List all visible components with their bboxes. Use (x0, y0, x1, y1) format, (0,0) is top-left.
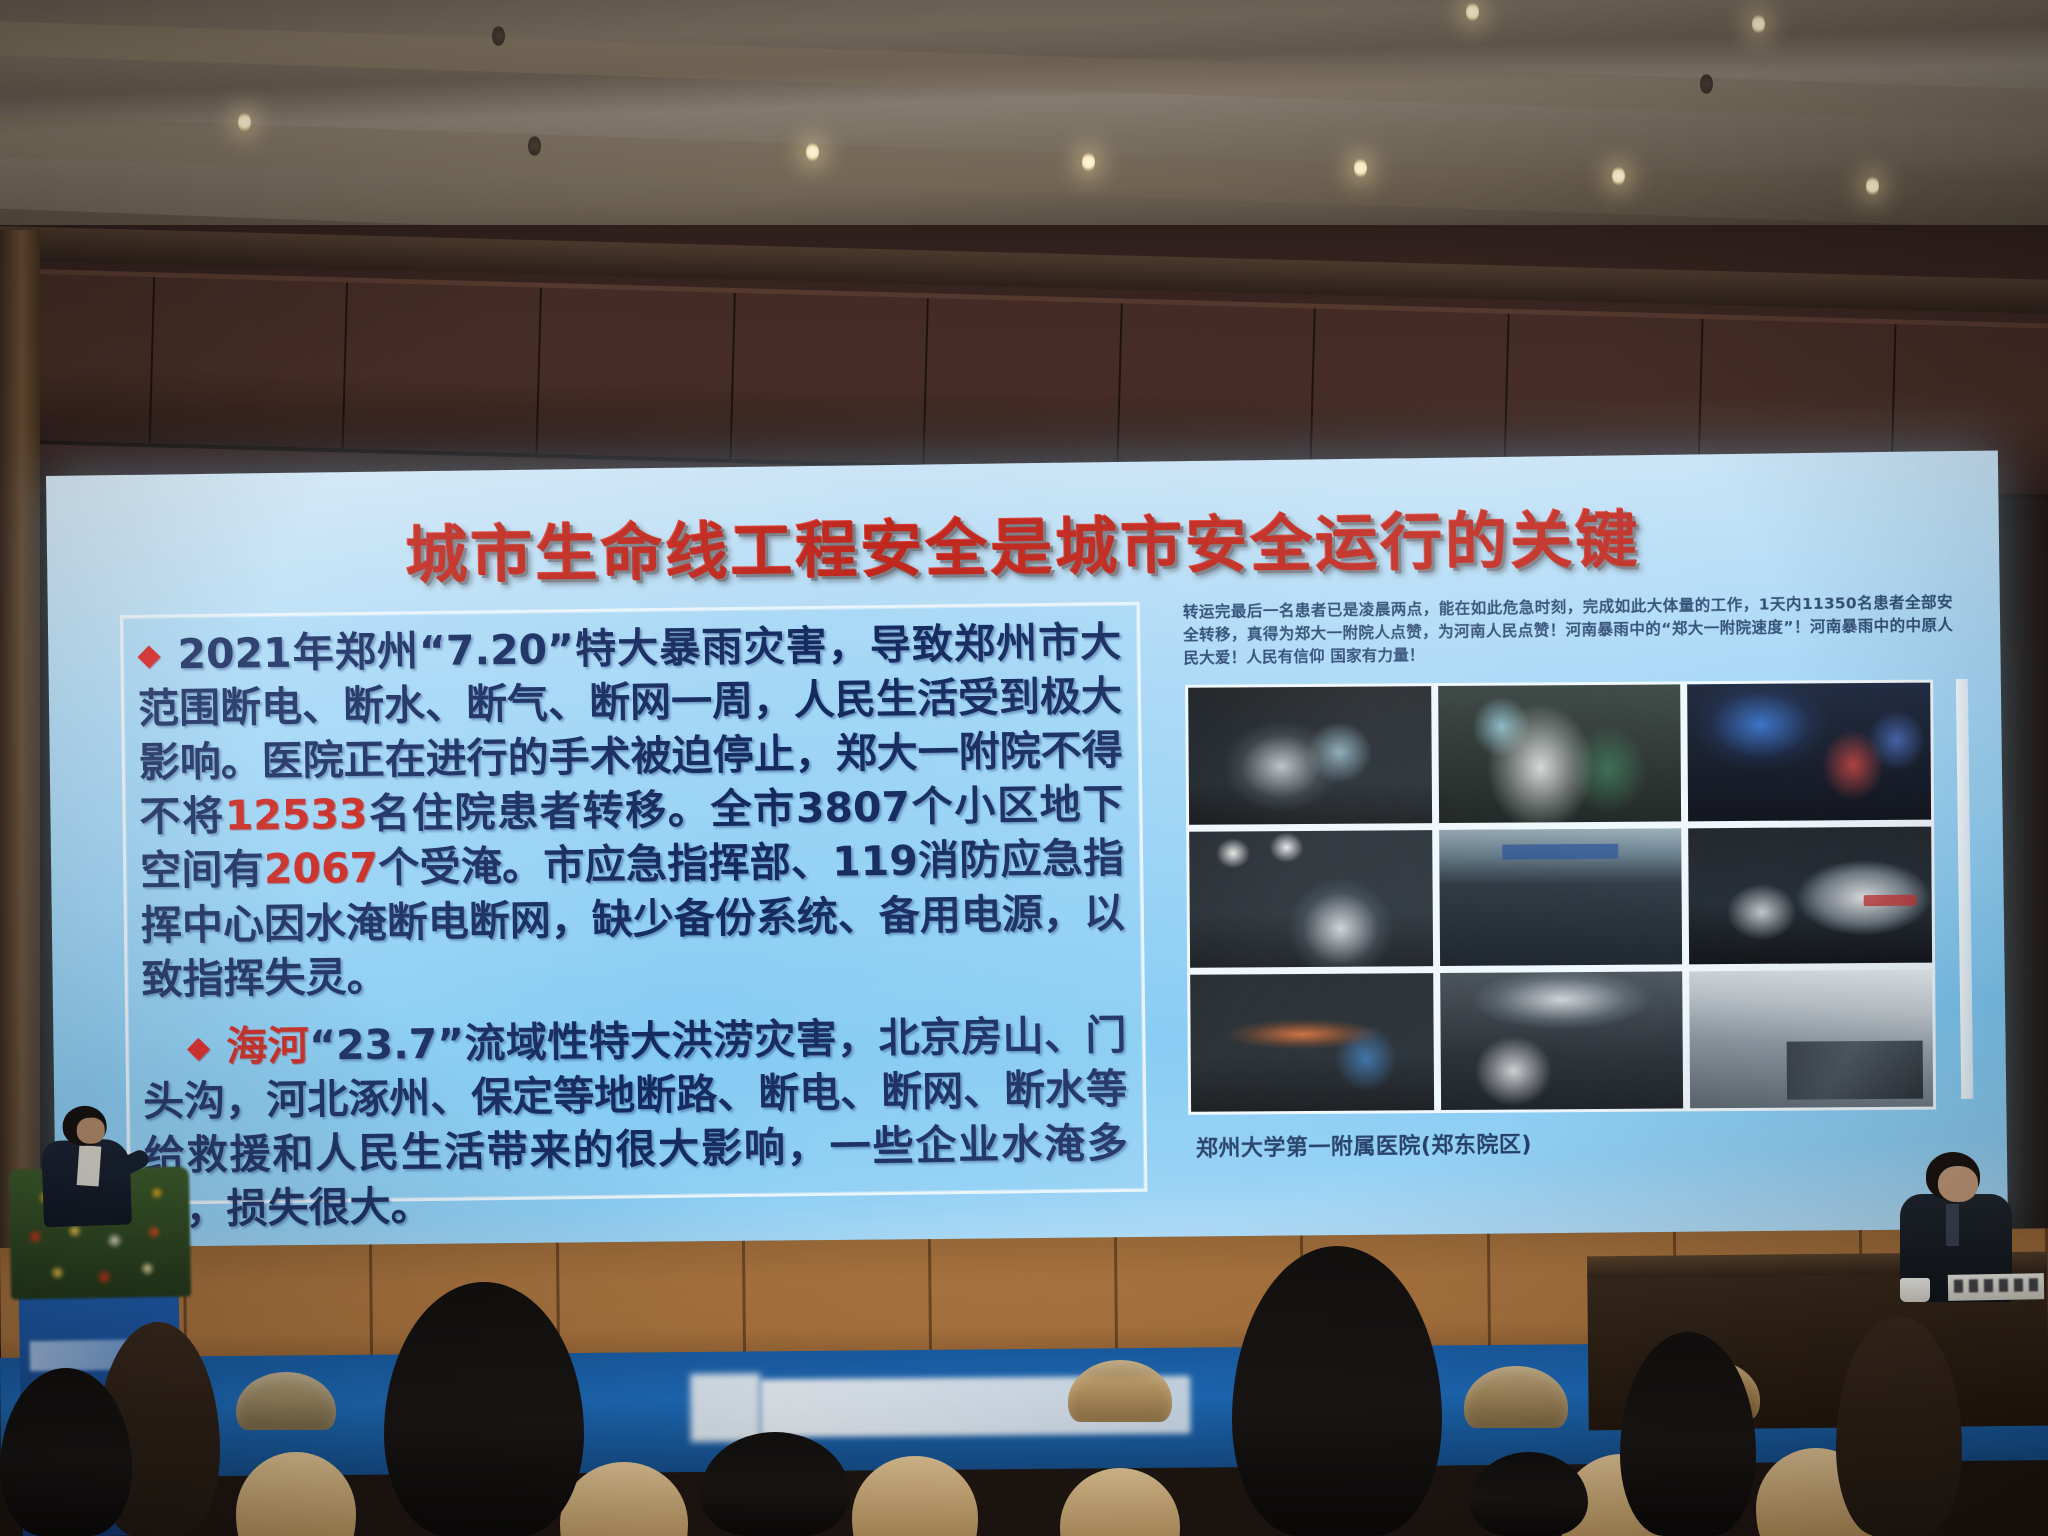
ceiling (0, 0, 2048, 250)
projection-screen: 城市生命线工程安全是城市安全运行的关键 ◆2021年郑州“7.20”特大暴雨灾害… (46, 450, 2008, 1265)
ceiling-light-icon (1354, 158, 1367, 178)
chair (560, 1462, 688, 1536)
photo-caption: 郑州大学第一附属医院(郑东院区) (1196, 1123, 1836, 1163)
wall-panel (150, 277, 348, 448)
ceiling-light-icon (1700, 74, 1713, 94)
ceiling-band (0, 112, 2048, 236)
photo-grid (1185, 680, 1936, 1115)
page-title: 城市生命线工程安全是城市安全运行的关键 (46, 484, 1999, 600)
official-tie (1946, 1204, 1959, 1246)
official-face (1938, 1166, 1978, 1202)
paragraph-1-number-2067: 2067 (264, 844, 379, 893)
photo-dark-ward-evacuation (1188, 686, 1432, 824)
conference-hall-scene: 城市生命线工程安全是城市安全运行的关键 ◆2021年郑州“7.20”特大暴雨灾害… (0, 0, 2048, 1536)
slide-surface: 城市生命线工程安全是城市安全运行的关键 ◆2021年郑州“7.20”特大暴雨灾害… (46, 450, 2008, 1265)
wall-panel (344, 283, 542, 454)
speaker-shirt (77, 1145, 102, 1186)
nameplate-text-blur (1954, 1278, 2038, 1292)
photo-nurses-carrying-patient (1438, 684, 1682, 822)
ceiling-light-icon (1752, 14, 1765, 34)
ceiling-light-icon (806, 142, 819, 162)
banner-text-blur (690, 1373, 761, 1442)
transfer-note-text: 转运完最后一名患者已是凌晨两点，能在如此危急时刻，完成如此大体量的工作，1天内1… (1183, 591, 1954, 670)
paragraph-indent (143, 1061, 187, 1062)
diamond-bullet-icon: ◆ (137, 638, 162, 673)
ceiling-band (0, 18, 2048, 130)
wall-panel (1118, 303, 1316, 474)
ceiling-light-icon (492, 26, 505, 46)
bullet-paragraph-1: ◆2021年郑州“7.20”特大暴雨灾害，导致郑州市大范围断电、断水、断气、断网… (137, 615, 1126, 1007)
slide-text-box: ◆2021年郑州“7.20”特大暴雨灾害，导致郑州市大范围断电、断水、断气、断网… (120, 602, 1148, 1205)
slide-right-column: 转运完最后一名患者已是凌晨两点，能在如此危急时刻，完成如此大体量的工作，1天内1… (1183, 591, 1961, 1211)
wall-panel (537, 288, 735, 459)
ceiling-light-icon (1612, 166, 1625, 186)
paragraph-1-number-12533: 12533 (225, 790, 368, 840)
bullet-paragraph-2: ◆海河“23.7”流域性特大洪涝灾害，北京房山、门头沟，河北涿州、保定等地断路、… (142, 1008, 1129, 1237)
diamond-bullet-icon: ◆ (186, 1030, 210, 1065)
speaker-face (76, 1117, 105, 1144)
ceiling-light-icon (238, 112, 251, 132)
speaker-presenter (32, 1104, 132, 1227)
paragraph-2-keyword: 海河 (226, 1021, 309, 1070)
wall-panel (1312, 309, 1510, 480)
photo-ambulance-loading (1688, 826, 1932, 964)
ceiling-light-icon (1466, 2, 1479, 22)
photo-patients-in-corridor (1689, 970, 1933, 1108)
wall-panel (731, 293, 929, 464)
nameplate (1948, 1273, 2044, 1301)
ceiling-light-icon (1082, 152, 1095, 172)
ceiling-light-icon (528, 136, 541, 156)
slide-edge-strip (1956, 679, 1973, 1099)
chair (1060, 1468, 1180, 1536)
photo-flashlight-corridor (1189, 830, 1433, 968)
photo-dark-lobby-equipment (1190, 973, 1434, 1111)
ceiling-light-icon (1866, 176, 1879, 196)
photo-hospital-entrance-stretcher (1439, 828, 1683, 966)
wall-panel (925, 298, 1123, 469)
photo-nurses-at-station (1440, 972, 1684, 1110)
teacup (1900, 1278, 1930, 1302)
photo-blue-light-transfer (1687, 683, 1931, 821)
